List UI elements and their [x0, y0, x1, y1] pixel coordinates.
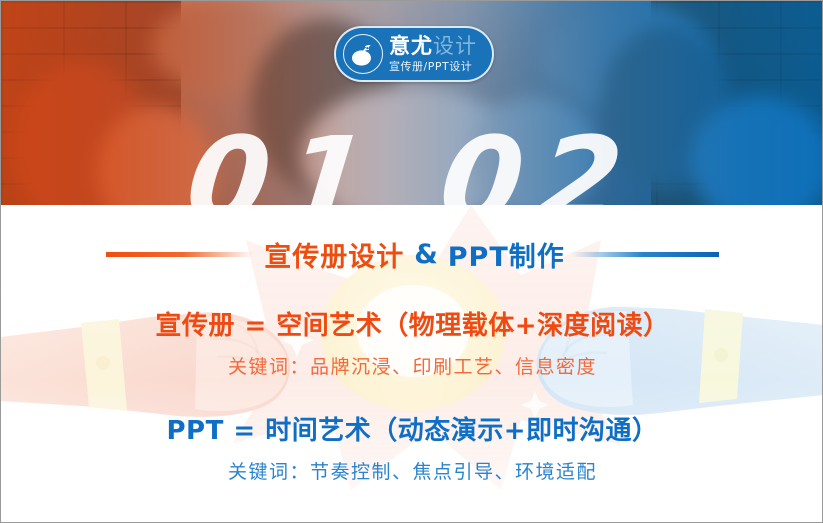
ppt-statement: PPT = 时间艺术（动态演示+即时沟通）: [1, 410, 823, 447]
content-area: 宣传册设计 & PPT制作 宣传册 = 空间艺术（物理载体+深度阅读） 关键词：…: [1, 205, 823, 523]
logo-name-bold: 意尤: [389, 36, 433, 57]
logo-tagline: 宣传册/PPT设计: [389, 61, 477, 72]
slide-canvas: 01 02 意尤 设计 宣传册/PPT设计: [0, 0, 823, 523]
logo-text-group: 意尤 设计 宣传册/PPT设计: [389, 36, 477, 72]
section-heading: 宣传册设计 & PPT制作: [1, 235, 823, 274]
logo-name-light: 设计: [433, 36, 477, 57]
brand-logo[interactable]: 意尤 设计 宣传册/PPT设计: [334, 26, 494, 82]
hero-banner: 01 02 意尤 设计 宣传册/PPT设计: [1, 1, 823, 205]
hero-background-numbers: 01 02: [1, 121, 823, 205]
heading-rule-right: [571, 252, 719, 257]
content-block-brochure: 宣传册 = 空间艺术（物理载体+深度阅读） 关键词：品牌沉浸、印刷工艺、信息密度: [1, 305, 823, 379]
heading-separator: &: [414, 239, 438, 270]
heading-text-ppt: PPT制作: [448, 235, 565, 274]
brochure-keywords: 关键词：品牌沉浸、印刷工艺、信息密度: [1, 352, 823, 379]
heading-text-brochure: 宣传册设计: [264, 235, 404, 274]
brochure-statement: 宣传册 = 空间艺术（物理载体+深度阅读）: [1, 305, 823, 342]
bird-pen-mark-icon: [343, 34, 383, 74]
heading-rule-left: [106, 252, 254, 257]
content-block-ppt: PPT = 时间艺术（动态演示+即时沟通） 关键词：节奏控制、焦点引导、环境适配: [1, 410, 823, 484]
ppt-keywords: 关键词：节奏控制、焦点引导、环境适配: [1, 457, 823, 484]
